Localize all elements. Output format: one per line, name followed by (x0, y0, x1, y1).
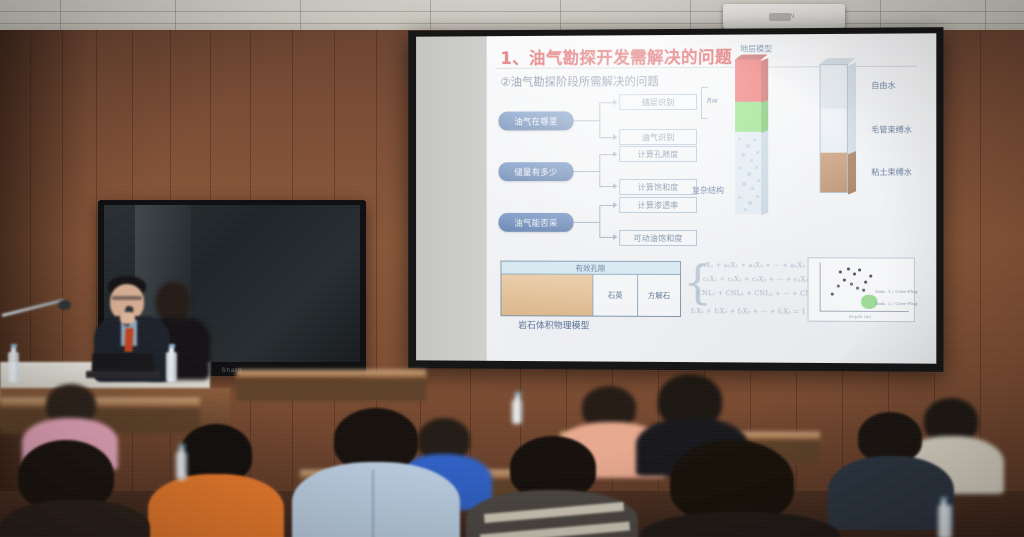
flow-task-3-2: 可动油饱和度 (619, 230, 697, 246)
water-bottle-mid (176, 452, 187, 480)
flow-task-3-1: 计算渗透率 (619, 197, 697, 213)
eyeglasses (112, 296, 142, 300)
chart-x-label: Depth (m) (849, 314, 872, 319)
attendee-navy-jacket (828, 412, 954, 524)
water-bottle-left (8, 352, 19, 382)
cluster-label-2: Sam. 2 / Core-Plug (875, 301, 917, 306)
chart-x-axis (820, 311, 909, 312)
rock-matrix-fill (501, 274, 592, 315)
presenter-laptop-base (86, 371, 160, 378)
flow-question-2: 储量有多少 (498, 162, 573, 181)
problem-flowchart: 油气在哪里 储层识别 油气识别 储量有多少 计算孔隙度 计算饱和度 (495, 93, 723, 251)
stratum-model-title: 地层模型 (740, 43, 772, 54)
rock-volume-model: 有效孔隙 石英 方解石 (500, 261, 681, 317)
flow-question-3: 油气能否采 (498, 213, 573, 232)
rock-cell-quartz: 石英 (592, 275, 637, 316)
equation-line-4: f₁X₁ + f₂X₂ + f₃X₃ + ⋯ + fₙXₙ = 1 (691, 307, 806, 316)
lecture-hall-photo: EPSON 1、油气勘探开发需解决的问题 ②油气勘探阶段所需解决的问题 油气在哪… (0, 0, 1024, 537)
flow-question-1: 油气在哪里 (498, 111, 573, 130)
slide-canvas: 1、油气勘探开发需解决的问题 ②油气勘探阶段所需解决的问题 油气在哪里 储层识别… (487, 33, 937, 363)
attendee-orange-hoodie (148, 424, 284, 537)
rw-bracket (701, 87, 702, 119)
cluster-label-1: Sam. 1 / Core-Plug (875, 289, 917, 294)
water-label-clay: 粘土束缚水 (871, 167, 912, 178)
presenter-tie (124, 328, 133, 352)
crossplot-chart: Sam. 1 / Core-Plug Sam. 2 / Core-Plug De… (808, 257, 915, 322)
projector-lens (769, 13, 791, 21)
complex-structure-label: 复杂结构 (692, 185, 724, 196)
microphone-stand (2, 300, 72, 328)
slide-title: 1、油气勘探开发需解决的问题 (500, 44, 732, 69)
chart-y-axis (820, 262, 821, 310)
water-bottle-row2 (512, 400, 522, 424)
ceiling-projector: EPSON (723, 4, 845, 30)
projection-surface: 1、油气勘探开发需解决的问题 ②油气勘探阶段所需解决的问题 油气在哪里 储层识别… (416, 33, 936, 363)
flow-task-1-2: 油气识别 (619, 129, 697, 145)
attendee-front-left-dark (0, 440, 150, 537)
rw-label: Rw (707, 97, 718, 105)
water-label-capillary: 毛管束缚水 (871, 124, 912, 135)
slide-left-margin (416, 36, 487, 361)
water-label-free: 自由水 (871, 80, 895, 91)
attendee-light-blue-shirt (292, 408, 460, 537)
rock-model-header: 有效孔隙 (501, 262, 680, 275)
audience-desk-front-2 (236, 379, 426, 401)
flow-task-2-1: 计算孔隙度 (619, 146, 697, 162)
attendee-striped-jacket (466, 436, 638, 537)
flow-task-2-2: 计算饱和度 (619, 179, 697, 195)
water-bottle-front-right (938, 505, 952, 537)
microphone-head (58, 300, 71, 310)
equation-line-1: a₁X₁ + a₂X₂ + a₃X₃ + ⋯ + aₙXₙ = b₁ (699, 261, 823, 269)
presenter-hand (120, 312, 135, 324)
flow-task-1-1: 储层识别 (619, 94, 697, 110)
rock-cell-calcite: 方解石 (637, 275, 680, 316)
microphone-arm (2, 299, 65, 317)
attendee-front-center-dark (640, 440, 840, 537)
rock-model-caption: 岩石体积物理模型 (518, 318, 589, 331)
slide-subtitle: ②油气勘探阶段所需解决的问题 (500, 73, 658, 90)
water-bottle-presenter (166, 352, 177, 382)
audience-desk-row-2 (236, 370, 426, 379)
projection-screen: 1、油气勘探开发需解决的问题 ②油气勘探阶段所需解决的问题 油气在哪里 储层识别… (408, 27, 943, 372)
